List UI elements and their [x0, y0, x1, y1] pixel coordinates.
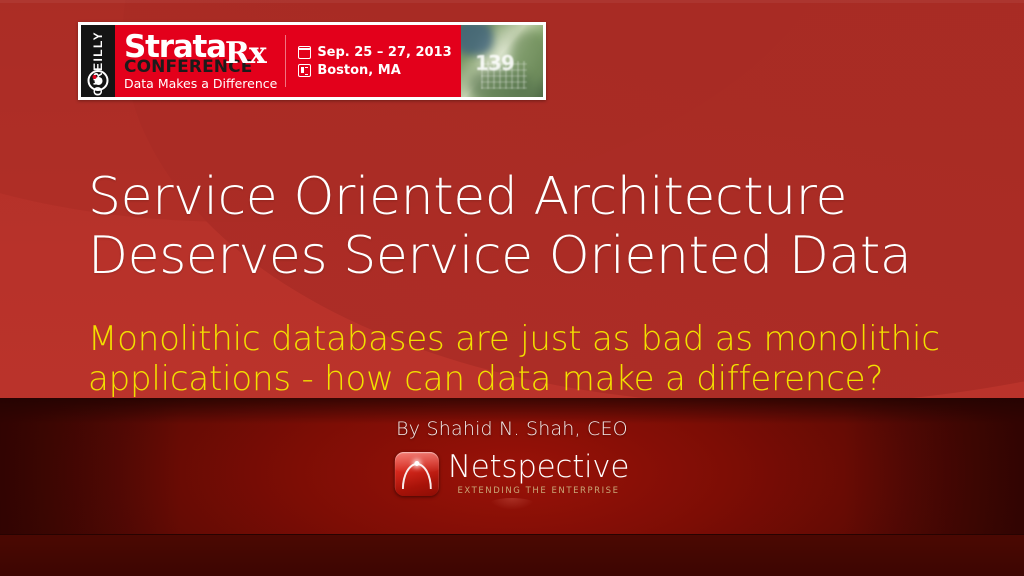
slide-subtitle: Monolithic databases are just as bad as … — [88, 319, 993, 399]
banner-inner: O'REILLY Strata Rx CONFERENCE Data Makes… — [81, 25, 543, 97]
netspective-tagline: EXTENDING THE ENTERPRISE — [448, 487, 629, 496]
background-top-highlight — [0, 0, 1024, 3]
slide-subtitle-line-1: Monolithic databases are just as bad as … — [88, 319, 993, 359]
presenter-byline: By Shahid N. Shah, CEO — [0, 418, 1024, 440]
oreilly-eye-highlight — [93, 75, 97, 79]
banner-photo: 139 — [461, 25, 543, 97]
banner-date-row: Sep. 25 – 27, 2013 — [298, 45, 461, 60]
slide-title-line-2: Deserves Service Oriented Data — [88, 227, 948, 286]
strata-rx-conference-banner: O'REILLY Strata Rx CONFERENCE Data Makes… — [78, 22, 546, 100]
strata-rx-text: Rx — [225, 40, 266, 68]
bottom-strip — [0, 534, 1024, 576]
netspective-arch-icon — [395, 452, 439, 496]
oreilly-logo-block: O'REILLY — [81, 25, 115, 97]
slide-subtitle-line-2: applications - how can data make a diffe… — [88, 359, 993, 399]
banner-location-row: Boston, MA — [298, 63, 461, 78]
banner-date-text: Sep. 25 – 27, 2013 — [317, 45, 451, 60]
banner-tagline: Data Makes a Difference — [124, 78, 277, 91]
netspective-logo-text: Netspective EXTENDING THE ENTERPRISE — [448, 452, 629, 496]
banner-meta-block: Sep. 25 – 27, 2013 Boston, MA — [286, 25, 461, 97]
slide-title-line-1: Service Oriented Architecture — [88, 168, 948, 227]
netspective-logo: Netspective EXTENDING THE ENTERPRISE — [395, 452, 629, 496]
logo-spark — [414, 461, 419, 466]
logo-reflection — [489, 498, 535, 510]
building-icon — [298, 64, 311, 77]
netspective-name: Netspective — [448, 452, 629, 483]
slide-title: Service Oriented Architecture Deserves S… — [88, 168, 948, 287]
photo-number-readout: 139 — [475, 51, 514, 75]
banner-location-text: Boston, MA — [317, 63, 400, 78]
oreilly-eye-icon — [88, 70, 109, 91]
calendar-icon — [298, 46, 311, 59]
strata-wordmark-block: Strata Rx CONFERENCE Data Makes a Differ… — [115, 25, 285, 97]
presentation-slide: O'REILLY Strata Rx CONFERENCE Data Makes… — [0, 0, 1024, 576]
